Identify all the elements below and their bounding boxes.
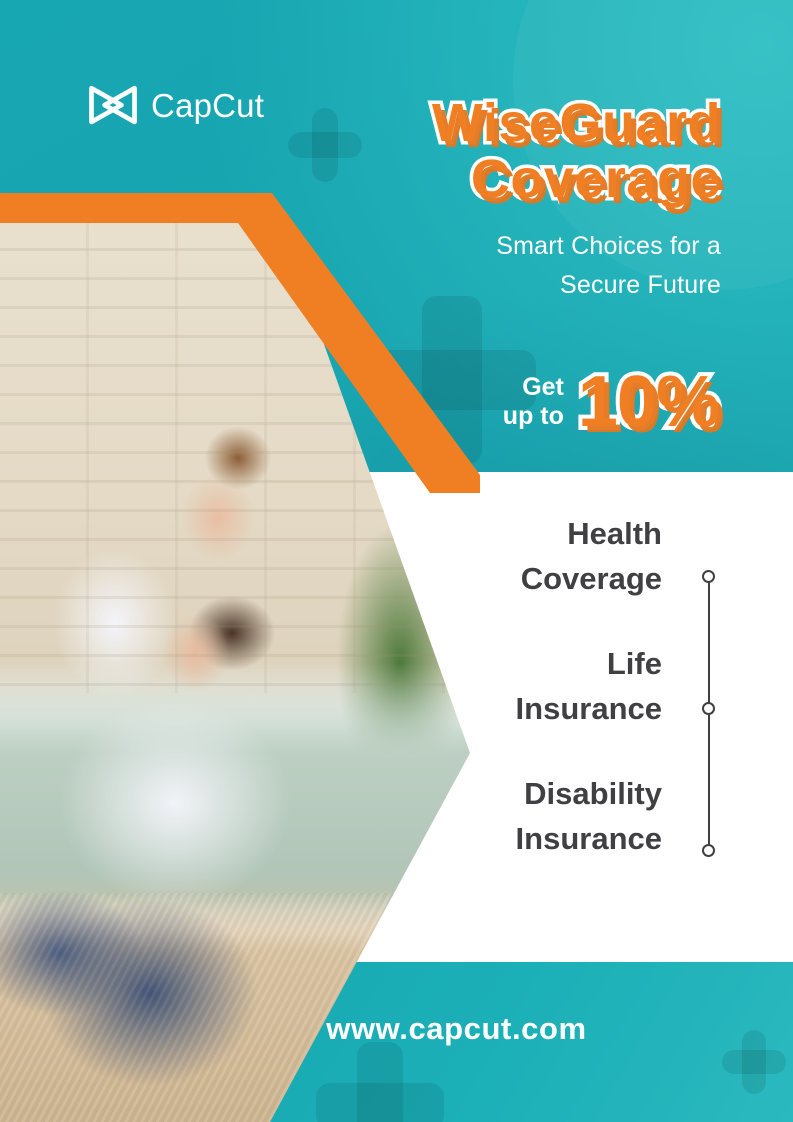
plus-cross-icon: [316, 1042, 444, 1122]
poster-subtitle: Smart Choices for a Secure Future: [301, 227, 721, 305]
timeline-marker-icon: [702, 702, 715, 715]
service-item-life-insurance[interactable]: Life Insurance: [430, 642, 720, 732]
service-line-2: Insurance: [430, 687, 662, 732]
timeline-marker-icon: [702, 844, 715, 857]
capcut-logo[interactable]: CapCut: [84, 82, 264, 130]
timeline-marker-icon: [702, 570, 715, 583]
service-item-health-coverage[interactable]: Health Coverage: [430, 512, 720, 602]
title-line-2: Coverage: [301, 152, 721, 208]
insurance-poster: www.capcut.com CapCut WiseGuard Coverage…: [0, 0, 793, 1122]
discount-badge: Get up to 10%: [503, 366, 719, 438]
discount-value: 10%: [578, 366, 719, 438]
subtitle-line-2: Secure Future: [560, 271, 721, 299]
headline-block: WiseGuard Coverage Smart Choices for a S…: [301, 96, 721, 305]
discount-label: Get up to: [503, 373, 564, 431]
plus-cross-icon: [236, 1088, 290, 1122]
capcut-logo-icon: [84, 82, 142, 130]
title-line-1: WiseGuard: [432, 93, 721, 153]
service-item-disability-insurance[interactable]: Disability Insurance: [430, 772, 720, 862]
service-line-1: Health: [430, 512, 662, 557]
capcut-logo-text: CapCut: [151, 87, 264, 125]
service-line-1: Life: [430, 642, 662, 687]
subtitle-line-1: Smart Choices for a: [496, 232, 721, 260]
service-line-2: Coverage: [430, 557, 662, 602]
poster-title: WiseGuard Coverage: [301, 96, 721, 207]
services-list: Health Coverage Life Insurance Disabilit…: [430, 512, 720, 862]
service-line-1: Disability: [430, 772, 662, 817]
service-line-2: Insurance: [430, 817, 662, 862]
